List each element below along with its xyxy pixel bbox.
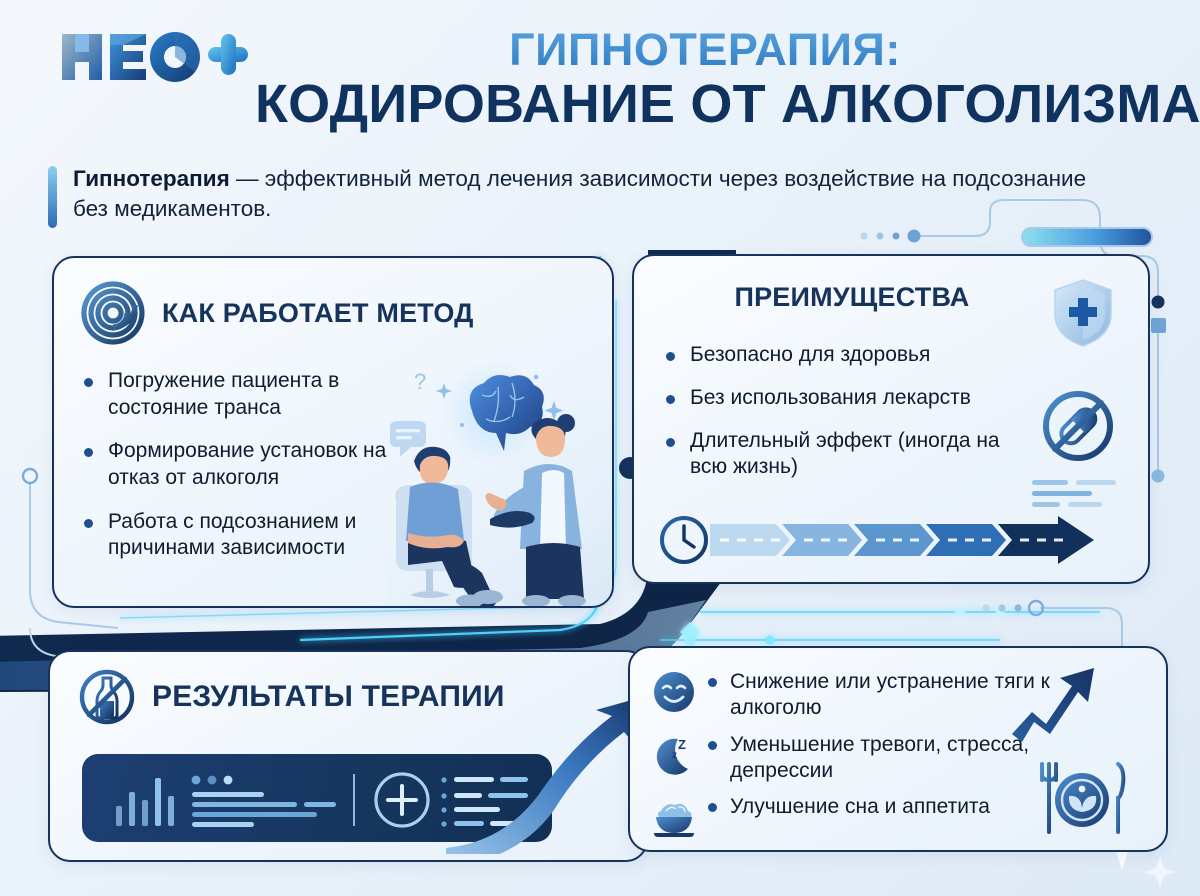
growth-arrow-icon: [446, 684, 648, 854]
title-line-1: ГИПНОТЕРАПИЯ:: [255, 26, 1155, 73]
moon-sleep-icon: Z z: [652, 733, 696, 777]
salad-bowl-icon: [652, 795, 696, 839]
svg-text:?: ?: [414, 369, 426, 394]
subtitle-block: Гипнотерапия — эффективный метод лечения…: [48, 164, 1098, 228]
list-item: Без использования лекарств: [664, 385, 1032, 412]
card-therapy-results: РЕЗУЛЬТАТЫ ТЕРАПИИ: [48, 650, 648, 862]
infographic-canvas: ГИПНОТЕРАПИЯ: КОДИРОВАНИЕ ОТ АЛКОГОЛИЗМА…: [0, 0, 1200, 896]
subtitle-lead: Гипнотерапия: [73, 166, 230, 191]
calm-face-icon: [652, 670, 696, 714]
effect-text: Улучшение сна и аппетита: [708, 793, 990, 820]
svg-text:Z: Z: [678, 737, 686, 752]
panel-lines: [192, 792, 336, 827]
text-lines-icon: [1032, 478, 1118, 512]
method-card-header: КАК РАБОТАЕТ МЕТОД: [54, 258, 612, 346]
benefits-bullet-list: Безопасно для здоровья Без использования…: [664, 342, 1032, 481]
svg-text:z: z: [672, 750, 677, 761]
panel-dots: [192, 776, 233, 785]
card-benefits: ПРЕИМУЩЕСТВА Безопасно для здоровья Без …: [632, 254, 1150, 584]
list-item: Работа с подсознанием и причинами зависи…: [82, 509, 422, 562]
trend-up-arrow-icon: [1010, 662, 1096, 746]
hypnosis-spiral-icon: [80, 280, 146, 346]
subtitle-accent-bar: [48, 166, 57, 228]
card-therapy-effects: Снижение или устранение тяги к алкоголю …: [628, 646, 1168, 852]
no-pill-icon: [1040, 388, 1116, 464]
list-item: Длительный эффект (иногда на всю жизнь): [664, 428, 1032, 481]
subtitle-text: Гипнотерапия — эффективный метод лечения…: [73, 164, 1098, 223]
list-item: Погружение пациента в состояние транса: [82, 368, 422, 421]
list-item: Формирование установок на отказ от алког…: [82, 438, 422, 491]
list-item: Улучшение сна и аппетита: [652, 793, 1082, 839]
neo-plus-logo[interactable]: [58, 26, 248, 88]
title-line-2: КОДИРОВАНИЕ ОТ АЛКОГОЛИЗМА: [255, 75, 1155, 133]
bar-chart-icon: [116, 778, 174, 826]
no-alcohol-icon: [78, 668, 136, 726]
method-card-title: КАК РАБОТАЕТ МЕТОД: [162, 298, 474, 328]
shield-cross-icon: [1052, 278, 1114, 348]
healthy-plate-icon: [1032, 760, 1132, 838]
list-item: Безопасно для здоровья: [664, 342, 1032, 369]
card-how-method-works: КАК РАБОТАЕТ МЕТОД Погружение пациента в…: [52, 256, 614, 608]
therapy-session-illustration: ?: [386, 361, 614, 606]
method-bullet-list: Погружение пациента в состояние транса Ф…: [82, 368, 422, 562]
header-title-block: ГИПНОТЕРАПИЯ: КОДИРОВАНИЕ ОТ АЛКОГОЛИЗМА: [255, 26, 1155, 134]
time-progression-arrow: [658, 514, 1126, 566]
plus-circle-icon: [376, 774, 428, 826]
